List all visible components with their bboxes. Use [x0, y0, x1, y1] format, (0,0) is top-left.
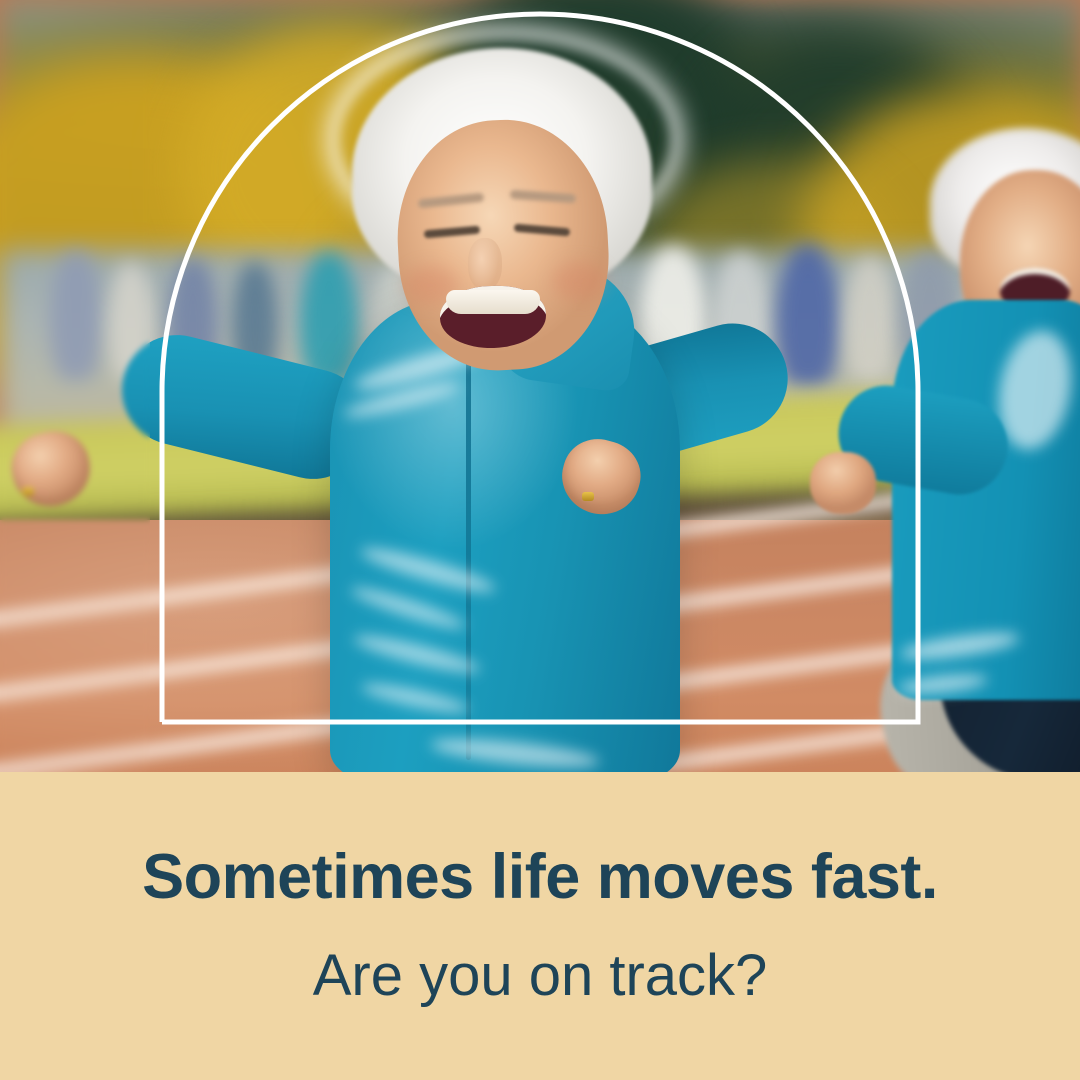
subheadline: Are you on track? [313, 947, 768, 1005]
blurred-spectator [844, 256, 896, 382]
hero-photo [0, 0, 1080, 772]
headline: Sometimes life moves fast. [142, 846, 938, 909]
ring-icon [582, 492, 594, 501]
teeth [446, 290, 540, 314]
promo-poster: Sometimes life moves fast. Are you on tr… [0, 0, 1080, 1080]
caption-panel: Sometimes life moves fast. Are you on tr… [0, 772, 1080, 1080]
depth-of-field-blur [0, 0, 150, 772]
runner2-hand [810, 452, 876, 514]
jacket-zipper [466, 330, 471, 760]
cheek-blush [552, 262, 606, 300]
nose [468, 238, 502, 290]
